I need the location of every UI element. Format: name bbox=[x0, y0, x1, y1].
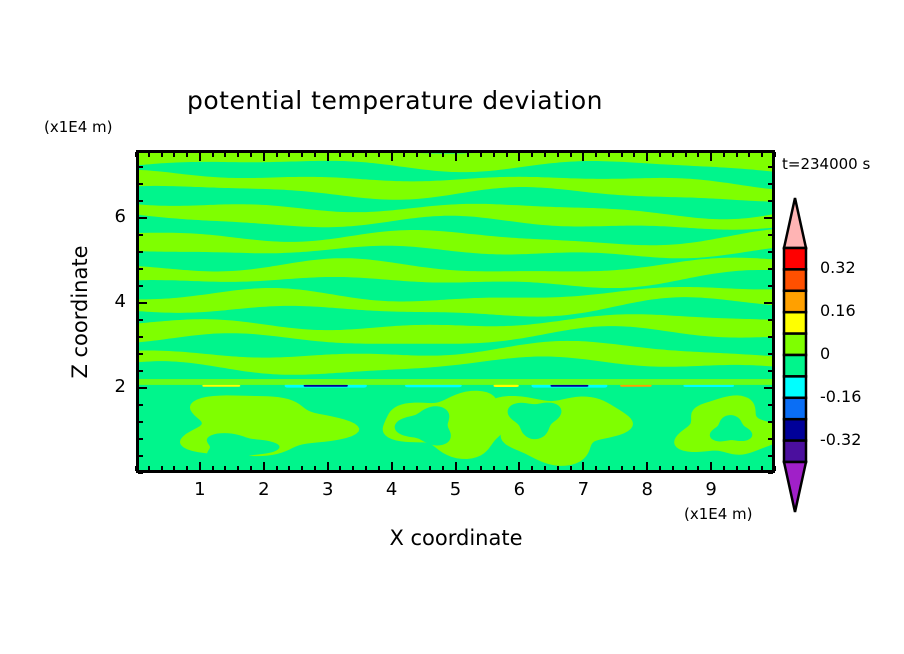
x-major-tick bbox=[710, 462, 712, 471]
x-minor-tick-top bbox=[506, 152, 508, 157]
x-minor-tick-top bbox=[161, 152, 163, 157]
x-minor-tick-top bbox=[173, 152, 175, 157]
x-major-tick bbox=[582, 462, 584, 471]
y-minor-tick-right bbox=[768, 336, 773, 338]
y-minor-tick bbox=[138, 421, 143, 423]
x-major-tick-top bbox=[710, 152, 712, 161]
x-major-tick bbox=[327, 462, 329, 471]
x-minor-tick bbox=[557, 466, 559, 471]
y-tick-label: 4 bbox=[86, 291, 126, 312]
x-minor-tick-top bbox=[748, 152, 750, 157]
y-tick-label: 6 bbox=[86, 206, 126, 227]
y-major-tick-right bbox=[764, 387, 773, 389]
x-minor-tick-top bbox=[697, 152, 699, 157]
x-minor-tick bbox=[173, 466, 175, 471]
x-major-tick-top bbox=[263, 152, 265, 161]
x-minor-tick-top bbox=[570, 152, 572, 157]
x-minor-tick bbox=[339, 466, 341, 471]
colorbar-tick-label: 0.16 bbox=[820, 301, 856, 320]
contour-plot-area bbox=[136, 150, 775, 473]
x-minor-tick-top bbox=[442, 152, 444, 157]
time-annotation: t=234000 s bbox=[782, 155, 870, 173]
y-minor-tick bbox=[138, 455, 143, 457]
x-minor-tick bbox=[736, 466, 738, 471]
x-minor-tick bbox=[659, 466, 661, 471]
x-minor-tick-top bbox=[288, 152, 290, 157]
x-minor-tick bbox=[416, 466, 418, 471]
x-minor-tick-top bbox=[301, 152, 303, 157]
x-minor-tick bbox=[314, 466, 316, 471]
y-minor-tick-right bbox=[768, 166, 773, 168]
x-major-tick bbox=[518, 462, 520, 471]
x-major-tick-top bbox=[646, 152, 648, 161]
y-minor-tick-right bbox=[768, 353, 773, 355]
x-minor-tick-top bbox=[237, 152, 239, 157]
x-minor-tick-top bbox=[493, 152, 495, 157]
x-minor-tick-top bbox=[135, 152, 137, 157]
colorbar-tick-label: -0.32 bbox=[820, 430, 861, 449]
x-minor-tick bbox=[723, 466, 725, 471]
y-minor-tick-right bbox=[768, 183, 773, 185]
y-minor-tick-right bbox=[768, 251, 773, 253]
x-minor-tick-top bbox=[212, 152, 214, 157]
y-minor-tick bbox=[138, 183, 143, 185]
x-minor-tick bbox=[544, 466, 546, 471]
x-axis-title: X coordinate bbox=[136, 526, 776, 550]
x-minor-tick-top bbox=[314, 152, 316, 157]
x-major-tick bbox=[455, 462, 457, 471]
x-tick-label: 6 bbox=[499, 479, 539, 500]
x-major-tick-top bbox=[455, 152, 457, 161]
x-major-tick bbox=[391, 462, 393, 471]
x-tick-label: 8 bbox=[627, 479, 667, 500]
y-minor-tick bbox=[138, 234, 143, 236]
y-tick-label: 2 bbox=[86, 376, 126, 397]
x-minor-tick bbox=[442, 466, 444, 471]
x-minor-tick bbox=[761, 466, 763, 471]
x-minor-tick-top bbox=[339, 152, 341, 157]
y-minor-tick-right bbox=[768, 319, 773, 321]
y-major-tick bbox=[138, 217, 147, 219]
x-minor-tick bbox=[161, 466, 163, 471]
x-minor-tick-top bbox=[761, 152, 763, 157]
x-minor-tick-top bbox=[365, 152, 367, 157]
x-minor-tick bbox=[685, 466, 687, 471]
x-tick-label: 1 bbox=[180, 479, 220, 500]
x-minor-tick-top bbox=[250, 152, 252, 157]
x-minor-tick-top bbox=[608, 152, 610, 157]
x-tick-label: 3 bbox=[308, 479, 348, 500]
x-minor-tick-top bbox=[672, 152, 674, 157]
x-major-tick bbox=[199, 462, 201, 471]
y-minor-tick-right bbox=[768, 472, 773, 474]
x-major-tick-top bbox=[327, 152, 329, 161]
y-minor-tick bbox=[138, 251, 143, 253]
x-minor-tick bbox=[250, 466, 252, 471]
x-major-tick bbox=[263, 462, 265, 471]
x-minor-tick bbox=[186, 466, 188, 471]
y-minor-tick bbox=[138, 438, 143, 440]
colorbar-swatches bbox=[782, 196, 808, 514]
x-minor-tick-top bbox=[544, 152, 546, 157]
colorbar-tick-label: 0.32 bbox=[820, 258, 856, 277]
y-major-tick bbox=[138, 387, 147, 389]
x-minor-tick-top bbox=[736, 152, 738, 157]
y-minor-tick bbox=[138, 166, 143, 168]
x-minor-tick bbox=[595, 466, 597, 471]
x-minor-tick bbox=[135, 466, 137, 471]
x-minor-tick bbox=[237, 466, 239, 471]
y-minor-tick bbox=[138, 268, 143, 270]
y-minor-tick bbox=[138, 200, 143, 202]
x-minor-tick-top bbox=[774, 152, 776, 157]
y-minor-tick-right bbox=[768, 421, 773, 423]
y-minor-tick-right bbox=[768, 285, 773, 287]
x-minor-tick bbox=[365, 466, 367, 471]
x-minor-tick-top bbox=[595, 152, 597, 157]
x-minor-tick bbox=[774, 466, 776, 471]
y-minor-tick-right bbox=[768, 234, 773, 236]
x-minor-tick-top bbox=[480, 152, 482, 157]
y-minor-tick bbox=[138, 404, 143, 406]
x-minor-tick bbox=[608, 466, 610, 471]
x-minor-tick bbox=[506, 466, 508, 471]
x-major-tick-top bbox=[391, 152, 393, 161]
colorbar-tick-label: -0.16 bbox=[820, 387, 861, 406]
x-minor-tick bbox=[531, 466, 533, 471]
x-minor-tick-top bbox=[633, 152, 635, 157]
y-minor-tick-right bbox=[768, 200, 773, 202]
y-minor-tick-right bbox=[768, 268, 773, 270]
x-minor-tick-top bbox=[378, 152, 380, 157]
x-minor-tick bbox=[480, 466, 482, 471]
x-minor-tick-top bbox=[416, 152, 418, 157]
x-minor-tick bbox=[633, 466, 635, 471]
x-minor-tick bbox=[697, 466, 699, 471]
colorbar-tick-label: 0 bbox=[820, 344, 830, 363]
contour-field bbox=[139, 153, 772, 470]
y-major-tick bbox=[138, 302, 147, 304]
x-minor-tick bbox=[378, 466, 380, 471]
x-minor-tick bbox=[467, 466, 469, 471]
x-minor-tick bbox=[224, 466, 226, 471]
y-major-tick-right bbox=[764, 302, 773, 304]
x-major-tick bbox=[646, 462, 648, 471]
figure-canvas: potential temperature deviation (x1E4 m)… bbox=[0, 0, 904, 654]
x-minor-tick-top bbox=[467, 152, 469, 157]
x-minor-tick-top bbox=[276, 152, 278, 157]
x-tick-label: 5 bbox=[436, 479, 476, 500]
x-minor-tick bbox=[621, 466, 623, 471]
x-minor-tick bbox=[148, 466, 150, 471]
x-major-tick-top bbox=[582, 152, 584, 161]
y-minor-tick bbox=[138, 472, 143, 474]
x-minor-tick-top bbox=[403, 152, 405, 157]
x-minor-tick bbox=[403, 466, 405, 471]
y-minor-tick-right bbox=[768, 404, 773, 406]
x-minor-tick bbox=[570, 466, 572, 471]
colorbar bbox=[782, 196, 808, 514]
y-minor-tick-right bbox=[768, 455, 773, 457]
x-minor-tick bbox=[672, 466, 674, 471]
x-major-tick-top bbox=[199, 152, 201, 161]
x-tick-label: 2 bbox=[244, 479, 284, 500]
x-major-tick-top bbox=[518, 152, 520, 161]
y-minor-tick bbox=[138, 353, 143, 355]
x-minor-tick-top bbox=[621, 152, 623, 157]
x-minor-tick-top bbox=[723, 152, 725, 157]
x-minor-tick-top bbox=[557, 152, 559, 157]
y-minor-tick bbox=[138, 319, 143, 321]
x-tick-label: 9 bbox=[691, 479, 731, 500]
x-minor-tick-top bbox=[352, 152, 354, 157]
y-minor-tick bbox=[138, 285, 143, 287]
x-minor-tick-top bbox=[685, 152, 687, 157]
x-minor-tick bbox=[352, 466, 354, 471]
y-major-tick-right bbox=[764, 217, 773, 219]
x-minor-tick-top bbox=[659, 152, 661, 157]
x-minor-tick bbox=[301, 466, 303, 471]
x-minor-tick-top bbox=[148, 152, 150, 157]
page-title: potential temperature deviation bbox=[0, 86, 790, 115]
x-minor-tick bbox=[748, 466, 750, 471]
y-minor-tick bbox=[138, 370, 143, 372]
x-axis-unit-label: (x1E4 m) bbox=[684, 505, 753, 523]
x-minor-tick-top bbox=[531, 152, 533, 157]
x-minor-tick bbox=[429, 466, 431, 471]
y-minor-tick-right bbox=[768, 438, 773, 440]
x-minor-tick bbox=[493, 466, 495, 471]
y-minor-tick-right bbox=[768, 370, 773, 372]
x-tick-label: 4 bbox=[372, 479, 412, 500]
x-minor-tick-top bbox=[186, 152, 188, 157]
x-minor-tick bbox=[212, 466, 214, 471]
x-minor-tick bbox=[276, 466, 278, 471]
x-minor-tick bbox=[288, 466, 290, 471]
x-minor-tick-top bbox=[224, 152, 226, 157]
x-minor-tick-top bbox=[429, 152, 431, 157]
y-minor-tick bbox=[138, 336, 143, 338]
x-tick-label: 7 bbox=[563, 479, 603, 500]
y-axis-unit-label: (x1E4 m) bbox=[44, 118, 113, 136]
